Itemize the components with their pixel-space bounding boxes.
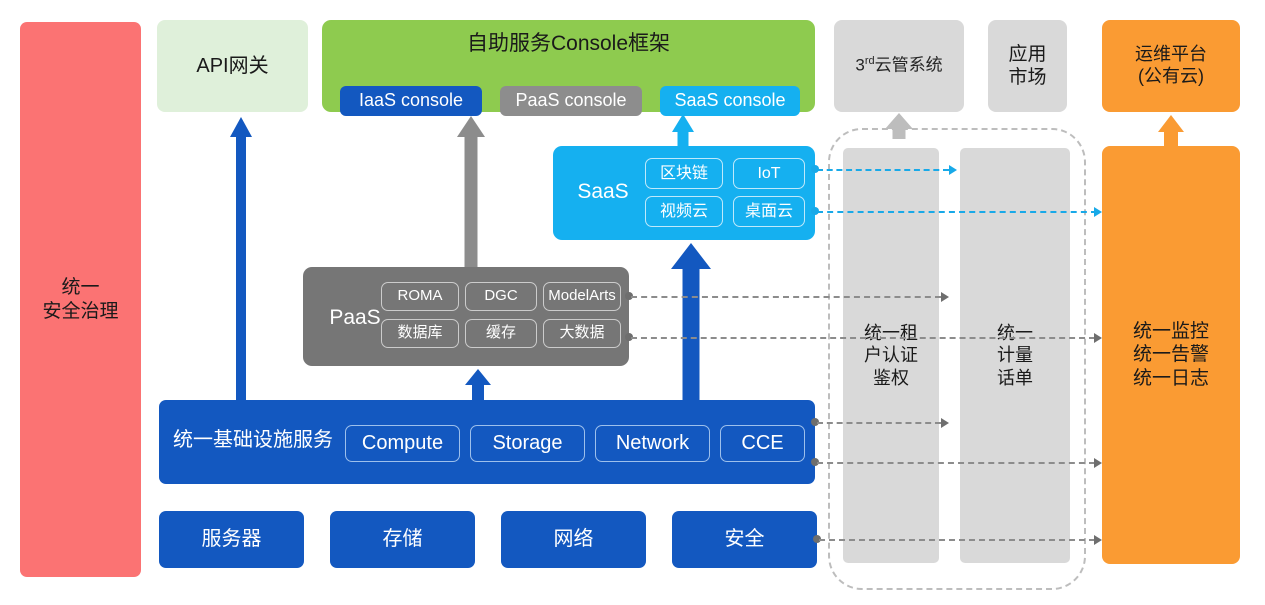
auth-line3: 鉴权 — [864, 367, 918, 390]
unified-infrastructure-bar: 统一基础设施服务 Compute Storage Network CCE — [159, 400, 815, 484]
resource-tile-server[interactable]: 服务器 — [159, 511, 304, 568]
resource-tile-network[interactable]: 网络 — [501, 511, 646, 568]
third-party-superscript: rd — [865, 55, 875, 67]
ops-platform-line1: 运维平台 — [1135, 44, 1207, 66]
infra-service-compute[interactable]: Compute — [345, 425, 460, 462]
billing-line2: 计量 — [997, 344, 1033, 367]
api-gateway-box[interactable]: API网关 — [157, 20, 308, 112]
arrow-infra-to-paas — [463, 369, 493, 402]
connector-arrowhead-infra-ops — [1094, 458, 1102, 468]
paas-service-cache[interactable]: 缓存 — [465, 319, 537, 348]
paas-service-modelarts[interactable]: ModelArts — [543, 282, 621, 311]
self-service-console-frame: 自助服务Console框架 IaaS console PaaS console … — [322, 20, 815, 112]
saas-layer-box: SaaS 区块链 IoT 视频云 桌面云 — [553, 146, 815, 240]
paas-layer-box: PaaS ROMA DGC ModelArts 数据库 缓存 大数据 — [303, 267, 629, 366]
connector-arrowhead-saas-auth — [949, 165, 957, 175]
ops-panel-line2: 统一告警 — [1133, 343, 1209, 366]
paas-service-database[interactable]: 数据库 — [381, 319, 459, 348]
paas-console-chip[interactable]: PaaS console — [500, 86, 642, 116]
connector-saas-to-ops — [817, 211, 1097, 213]
saas-service-iot[interactable]: IoT — [733, 158, 805, 189]
connector-arrowhead-paas-ops — [1094, 333, 1102, 343]
third-party-suffix: 云管系统 — [875, 56, 943, 75]
ops-monitoring-panel[interactable]: 统一监控 统一告警 统一日志 — [1102, 146, 1240, 564]
connector-arrowhead-saas-ops — [1094, 207, 1102, 217]
auth-line1: 统一租 — [864, 322, 918, 345]
paas-service-bigdata[interactable]: 大数据 — [543, 319, 621, 348]
saas-service-blockchain[interactable]: 区块链 — [645, 158, 723, 189]
ops-panel-line1: 统一监控 — [1133, 320, 1209, 343]
connector-arrowhead-infra-auth — [941, 418, 949, 428]
saas-service-desktop-cloud[interactable]: 桌面云 — [733, 196, 805, 227]
security-pillar-line1: 统一 — [42, 276, 118, 299]
arrow-infra-to-api-gateway — [226, 117, 256, 403]
paas-service-dgc[interactable]: DGC — [465, 282, 537, 311]
resource-tile-security[interactable]: 安全 — [672, 511, 817, 568]
auth-line2: 户认证 — [864, 344, 918, 367]
security-governance-pillar[interactable]: 统一 安全治理 — [20, 22, 141, 577]
arrow-paas-to-console — [455, 116, 487, 270]
connector-arrowhead-paas-auth — [941, 292, 949, 302]
resource-tile-storage[interactable]: 存储 — [330, 511, 475, 568]
security-pillar-line2: 安全治理 — [42, 300, 118, 323]
api-gateway-label: API网关 — [196, 54, 268, 78]
arrow-ops-panel-to-ops-platform — [1155, 115, 1187, 147]
third-party-cloud-mgmt-box[interactable]: 3rd云管系统 — [834, 20, 964, 112]
arrow-saas-to-console — [668, 114, 698, 149]
third-party-label: 3rd云管系统 — [855, 55, 942, 76]
infra-service-cce[interactable]: CCE — [720, 425, 805, 462]
connector-paas-to-ops — [631, 337, 1095, 339]
billing-line3: 话单 — [997, 367, 1033, 390]
ops-panel-line3: 统一日志 — [1133, 367, 1209, 390]
connector-infra-to-ops — [817, 462, 1095, 464]
connector-infra-to-auth — [817, 422, 941, 424]
app-market-box[interactable]: 应用 市场 — [988, 20, 1067, 112]
app-market-line2: 市场 — [1008, 66, 1046, 89]
connector-paas-to-auth — [631, 296, 941, 298]
ops-platform-line2: (公有云) — [1135, 66, 1207, 88]
arrow-infra-to-saas — [669, 243, 713, 403]
architecture-diagram: 统一 安全治理 API网关 自助服务Console框架 IaaS console… — [0, 0, 1265, 605]
app-market-line1: 应用 — [1008, 43, 1046, 66]
unified-infrastructure-label: 统一基础设施服务 — [173, 428, 333, 452]
connector-arrowhead-resources-ops — [1094, 535, 1102, 545]
third-party-prefix: 3 — [855, 56, 864, 75]
iaas-console-chip[interactable]: IaaS console — [340, 86, 482, 116]
paas-service-roma[interactable]: ROMA — [381, 282, 459, 311]
saas-layer-label: SaaS — [565, 179, 641, 205]
ops-platform-box[interactable]: 运维平台 (公有云) — [1102, 20, 1240, 112]
billing-line1: 统一 — [997, 322, 1033, 345]
connector-saas-to-auth — [817, 169, 949, 171]
saas-service-video-cloud[interactable]: 视频云 — [645, 196, 723, 227]
connector-resources-to-ops — [819, 539, 1095, 541]
infra-service-storage[interactable]: Storage — [470, 425, 585, 462]
saas-console-chip[interactable]: SaaS console — [660, 86, 800, 116]
console-frame-title: 自助服务Console框架 — [322, 31, 815, 57]
infra-service-network[interactable]: Network — [595, 425, 710, 462]
